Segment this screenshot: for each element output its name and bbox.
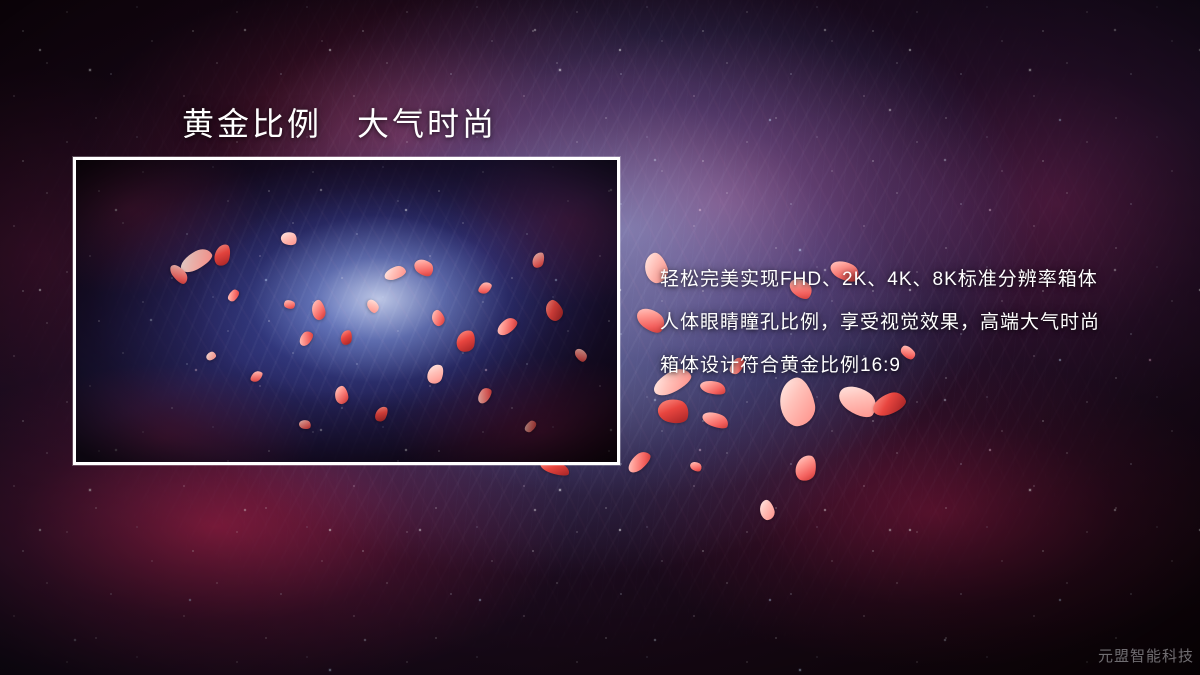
framed-picture-panel (73, 157, 620, 465)
slide-body-copy: 轻松完美实现FHD、2K、4K、8K标准分辨率箱体 人体眼睛瞳孔比例，享受视觉效… (660, 258, 1180, 387)
presentation-slide: 黄金比例 大气时尚 轻松完美实现FHD、2K、4K、8K标准分辨率箱体 人体眼睛… (0, 0, 1200, 675)
body-line-3: 箱体设计符合黄金比例16:9 (660, 344, 1180, 387)
panel-vignette (76, 160, 617, 462)
body-line-2: 人体眼睛瞳孔比例，享受视觉效果，高端大气时尚 (660, 301, 1180, 344)
company-watermark: 元盟智能科技 (1098, 645, 1194, 666)
slide-headline: 黄金比例 大气时尚 (182, 99, 497, 145)
body-line-1: 轻松完美实现FHD、2K、4K、8K标准分辨率箱体 (660, 258, 1180, 301)
